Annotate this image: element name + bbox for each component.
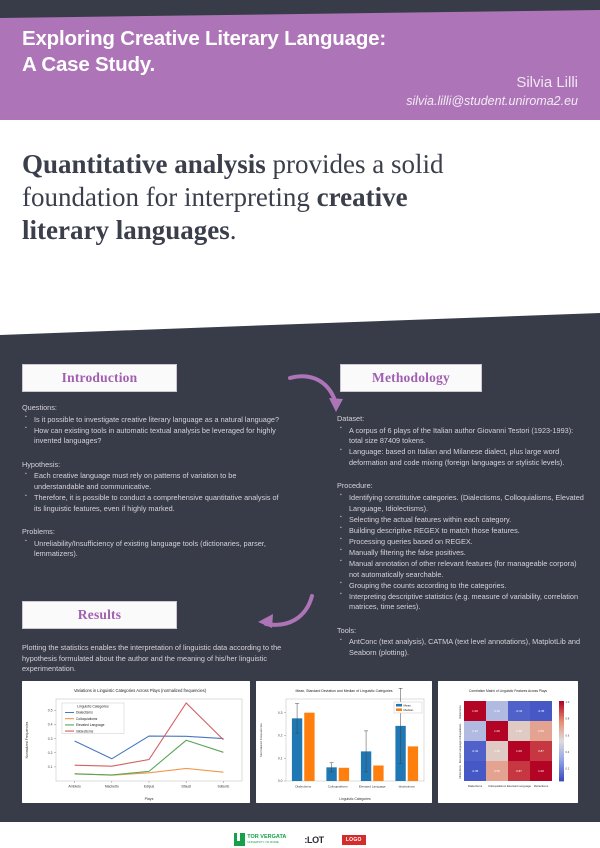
questions-list: Is it possible to investigate creative l… — [22, 415, 284, 447]
svg-text:1.0: 1.0 — [566, 700, 570, 704]
spacer — [22, 520, 284, 527]
svg-text:0.38: 0.38 — [516, 729, 522, 733]
svg-text:0.8: 0.8 — [566, 717, 570, 721]
results-heading: Results — [22, 601, 177, 629]
spacer — [22, 453, 284, 460]
svg-text:0.0: 0.0 — [278, 779, 283, 783]
svg-text:Mean: Mean — [404, 703, 412, 707]
svg-text:0.55: 0.55 — [538, 729, 544, 733]
svg-text:Median: Median — [404, 708, 414, 712]
list-item: Manually filtering the false positives. — [337, 548, 587, 559]
introduction-body: Questions: Is it possible to investigate… — [22, 403, 284, 560]
svg-text:0.55: 0.55 — [494, 769, 500, 773]
tools-label: Tools: — [337, 626, 587, 637]
svg-text:Linguistic Categories: Linguistic Categories — [77, 705, 109, 709]
line-chart: Variations in Linguistic Categories Acro… — [22, 681, 250, 803]
poster-footer: TOR VERGATA UNIVERSITY OF ROME :LOT LOGO — [0, 822, 600, 848]
list-item: Manual annotation of other relevant feat… — [337, 559, 587, 580]
list-item: Is it possible to investigate creative l… — [22, 415, 284, 426]
svg-text:Elevated Language: Elevated Language — [359, 785, 386, 789]
charts-row: Variations in Linguistic Categories Acro… — [22, 681, 578, 803]
list-item: Processing queries based on REGEX. — [337, 537, 587, 548]
tor-vergata-label: TOR VERGATA UNIVERSITY OF ROME — [247, 835, 286, 844]
svg-text:0.3: 0.3 — [48, 737, 53, 741]
svg-text:0.1: 0.1 — [278, 756, 283, 760]
list-item: Identifying constitutive categories. (Di… — [337, 493, 587, 514]
logo-row: TOR VERGATA UNIVERSITY OF ROME :LOT LOGO — [0, 833, 600, 846]
tools-list: AntConc (text analysis), CATMA (text lev… — [337, 637, 587, 658]
results-text: Plotting the statistics enables the inte… — [22, 643, 294, 675]
svg-text:Sfaust: Sfaust — [181, 785, 191, 789]
statement-text-2: . — [230, 215, 237, 245]
list-item: Grouping the counts according to the cat… — [337, 581, 587, 592]
svg-text:1.00: 1.00 — [494, 729, 500, 733]
svg-text:Dialectisms: Dialectisms — [76, 711, 93, 715]
svg-text:Linguistic Categories: Linguistic Categories — [339, 797, 371, 801]
svg-text:0.6: 0.6 — [566, 733, 570, 737]
svg-text:Elevated Language: Elevated Language — [76, 723, 105, 727]
svg-text:0.4: 0.4 — [48, 723, 53, 727]
svg-text:Dialectisms: Dialectisms — [295, 785, 311, 789]
title-line-1: Exploring Creative Literary Language: — [22, 26, 386, 52]
introduction-heading: Introduction — [22, 364, 177, 392]
svg-text:0.5: 0.5 — [48, 709, 53, 713]
svg-text:SdisorE: SdisorE — [217, 785, 230, 789]
svg-text:0.2: 0.2 — [278, 734, 283, 738]
spacer — [337, 474, 587, 481]
list-item: How can existing tools in automatic text… — [22, 426, 284, 447]
svg-text:Elevated Language: Elevated Language — [507, 784, 532, 788]
questions-label: Questions: — [22, 403, 284, 414]
statement-panel: Quantitative analysis provides a solid f… — [0, 120, 600, 335]
problems-label: Problems: — [22, 527, 284, 538]
svg-text:1.00: 1.00 — [516, 749, 522, 753]
svg-text:Dialectisms: Dialectisms — [468, 784, 483, 788]
svg-text:0.10: 0.10 — [494, 709, 500, 713]
third-logo: LOGO — [342, 835, 366, 845]
svg-text:Colloquialisms: Colloquialisms — [76, 717, 98, 721]
results-section: Results Plotting the statistics enables … — [22, 601, 284, 675]
procedure-label: Procedure: — [337, 481, 587, 492]
svg-text:Correlation Matrix of Linguist: Correlation Matrix of Linguistic Feature… — [469, 689, 547, 693]
svg-text:-0.31: -0.31 — [472, 749, 479, 753]
svg-text:0.87: 0.87 — [538, 749, 544, 753]
svg-text:0.2: 0.2 — [48, 751, 53, 755]
svg-text:-0.35: -0.35 — [538, 709, 545, 713]
problems-list: Unreliability/Insufficiency of existing … — [22, 539, 284, 560]
spacer — [337, 619, 587, 626]
dataset-label: Dataset: — [337, 414, 587, 425]
svg-text:0.38: 0.38 — [494, 749, 500, 753]
hypothesis-label: Hypothesis: — [22, 460, 284, 471]
poster-header: Exploring Creative Literary Language: A … — [0, 0, 600, 128]
list-item: AntConc (text analysis), CATMA (text lev… — [337, 637, 587, 658]
list-item: Each creative language must rely on patt… — [22, 471, 284, 492]
svg-text:Normalized Frequencies: Normalized Frequencies — [259, 723, 263, 757]
svg-text:Normalized Frequencies: Normalized Frequencies — [25, 721, 29, 758]
svg-text:Colloquialisms: Colloquialisms — [488, 784, 507, 788]
svg-text:Colloquialisms: Colloquialisms — [328, 785, 348, 789]
svg-text:Elevated Language: Elevated Language — [458, 740, 462, 763]
svg-text:Plays: Plays — [145, 797, 154, 801]
introduction-section: Introduction Questions: Is it possible t… — [22, 364, 284, 566]
heatmap-chart: Correlation Matrix of Linguistic Feature… — [438, 681, 578, 803]
svg-text:Idiolectisms: Idiolectisms — [458, 765, 462, 779]
statement-bold-1: Quantitative analysis — [22, 149, 266, 179]
methodology-heading: Methodology — [340, 364, 482, 392]
list-item: A corpus of 6 plays of the Italian autho… — [337, 426, 587, 447]
bar-chart: Mean, Standard Deviation and Median of L… — [256, 681, 432, 803]
svg-text:-0.31: -0.31 — [516, 709, 523, 713]
svg-text:Idiolectisms: Idiolectisms — [399, 785, 416, 789]
svg-text:Colloquialisms: Colloquialisms — [458, 723, 462, 740]
tor-vergata-logo: TOR VERGATA UNIVERSITY OF ROME — [234, 833, 286, 846]
svg-text:-0.35: -0.35 — [472, 769, 479, 773]
svg-text:1.00: 1.00 — [538, 769, 544, 773]
svg-text:0.4: 0.4 — [566, 750, 570, 754]
tor-vergata-sub: UNIVERSITY OF ROME — [247, 841, 286, 844]
page-title: Exploring Creative Literary Language: A … — [22, 26, 386, 78]
svg-text:1.00: 1.00 — [472, 709, 478, 713]
lot-logo: :LOT — [304, 835, 323, 845]
svg-text:Variations in Linguistic Categ: Variations in Linguistic Categories Acro… — [74, 688, 207, 693]
author-name: Silvia Lilli — [516, 74, 578, 91]
dataset-list: A corpus of 6 plays of the Italian autho… — [337, 426, 587, 469]
list-item: Unreliability/Insufficiency of existing … — [22, 539, 284, 560]
list-item: Selecting the actual features within eac… — [337, 515, 587, 526]
procedure-list: Identifying constitutive categories. (Di… — [337, 493, 587, 613]
svg-text:0.2: 0.2 — [566, 767, 570, 771]
svg-text:Idiolectisms: Idiolectisms — [76, 729, 94, 733]
list-item: Language: based on Italian and Milanese … — [337, 447, 587, 468]
svg-text:0.87: 0.87 — [516, 769, 522, 773]
university-mark-icon — [234, 833, 245, 846]
list-item: Therefore, it is possible to conduct a c… — [22, 493, 284, 514]
svg-text:0.3: 0.3 — [278, 711, 283, 715]
svg-text:Idiolectisms: Idiolectisms — [534, 784, 549, 788]
svg-text:Macbetto: Macbetto — [105, 785, 119, 789]
svg-text:Ambleto: Ambleto — [68, 785, 81, 789]
thesis-statement: Quantitative analysis provides a solid f… — [22, 148, 492, 247]
author-email: silvia.lilli@student.uniroma2.eu — [406, 94, 578, 108]
list-item: Interpreting descriptive statistics (e.g… — [337, 592, 587, 613]
svg-text:Edipus: Edipus — [144, 785, 155, 789]
svg-text:0.1: 0.1 — [48, 765, 53, 769]
hypothesis-list: Each creative language must rely on patt… — [22, 471, 284, 514]
svg-text:0.10: 0.10 — [472, 729, 478, 733]
methodology-section: Methodology Dataset: A corpus of 6 plays… — [337, 364, 587, 665]
svg-text:Dialectisms: Dialectisms — [458, 705, 462, 719]
methodology-body: Dataset: A corpus of 6 plays of the Ital… — [337, 414, 587, 659]
list-item: Building descriptive REGEX to match thos… — [337, 526, 587, 537]
title-line-2: A Case Study. — [22, 52, 386, 78]
svg-text:Mean, Standard Deviation and M: Mean, Standard Deviation and Median of L… — [295, 689, 392, 693]
